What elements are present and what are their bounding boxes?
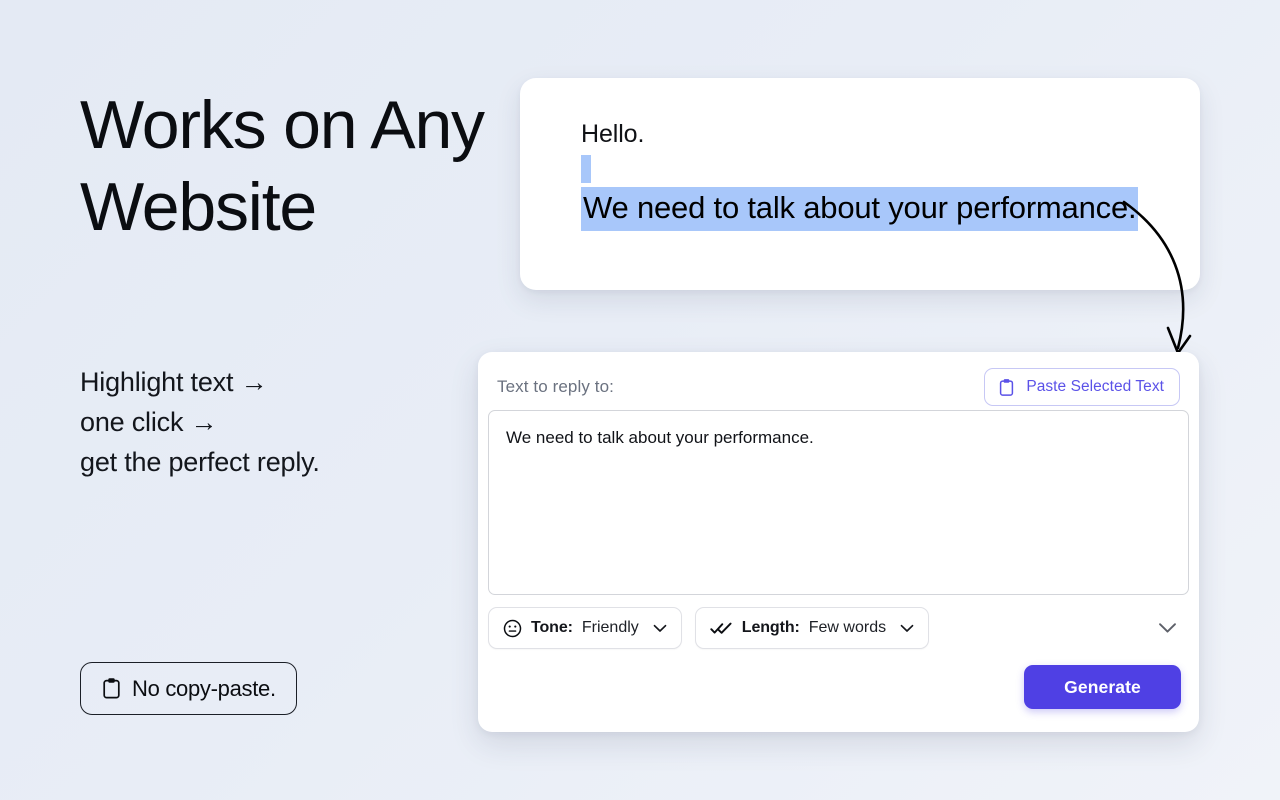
length-selector[interactable]: Length: Few words	[695, 607, 929, 649]
panel-header: Text to reply to: Paste Selected Text	[478, 362, 1199, 412]
preview-greeting-text: Hello.	[581, 118, 1160, 151]
clipboard-icon	[101, 677, 122, 700]
step-item-1: Highlight text →	[80, 362, 500, 402]
page-title: Works on Any Website	[80, 84, 510, 248]
extension-panel: Text to reply to: Paste Selected Text We…	[478, 352, 1199, 732]
panel-controls-row: Tone: Friendly Length: Few words	[488, 605, 1189, 651]
panel-footer: Generate	[488, 662, 1181, 712]
reply-source-textarea[interactable]: We need to talk about your performance.	[488, 410, 1189, 595]
double-check-icon	[710, 621, 733, 636]
step-item-3: get the perfect reply.	[80, 442, 500, 482]
headline-line-2: Website	[80, 166, 510, 248]
highlighted-selection-text[interactable]: We need to talk about your performance.	[581, 187, 1138, 231]
page-root: Works on Any Website Highlight text → on…	[0, 0, 1280, 800]
step-item-2: one click →	[80, 402, 500, 442]
tone-selector[interactable]: Tone: Friendly	[488, 607, 682, 649]
paste-selected-text-label: Paste Selected Text	[1026, 378, 1164, 396]
steps-list: Highlight text → one click → get the per…	[80, 362, 500, 482]
webpage-preview-card: Hello. We need to talk about your perfor…	[520, 78, 1200, 290]
paste-selected-text-button[interactable]: Paste Selected Text	[984, 368, 1180, 406]
length-value: Few words	[809, 619, 886, 637]
tone-label: Tone:	[531, 619, 573, 637]
tone-value: Friendly	[582, 619, 639, 637]
length-label: Length:	[742, 619, 800, 637]
chevron-down-icon[interactable]	[1154, 615, 1180, 641]
smiley-icon	[503, 619, 522, 638]
selection-stub	[581, 155, 591, 183]
clipboard-icon	[998, 378, 1015, 397]
headline-line-1: Works on Any	[80, 84, 510, 166]
chevron-down-icon	[900, 624, 914, 633]
text-to-reply-label: Text to reply to:	[497, 377, 614, 397]
no-copy-paste-badge: No copy-paste.	[80, 662, 297, 715]
no-copy-paste-label: No copy-paste.	[132, 676, 276, 702]
chevron-down-icon	[653, 624, 667, 633]
generate-button[interactable]: Generate	[1024, 665, 1181, 709]
webpage-preview-body: Hello. We need to talk about your perfor…	[581, 118, 1160, 231]
